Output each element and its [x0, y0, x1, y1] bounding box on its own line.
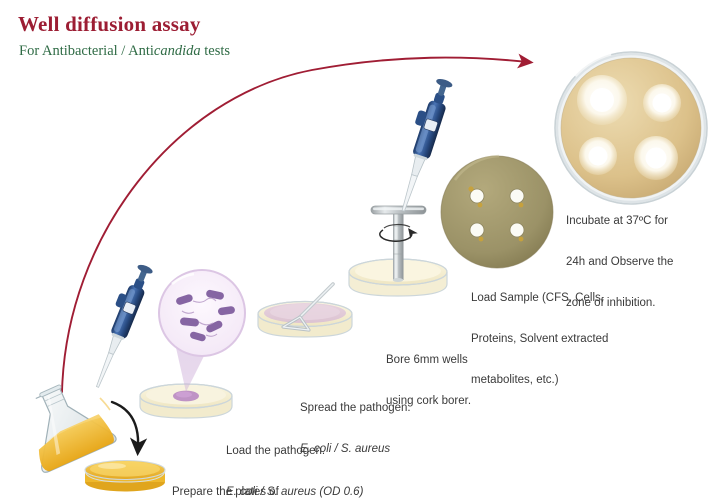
label-bore-wells: Bore 6mm wells using cork borer. [386, 327, 471, 436]
media-petri-dish [85, 461, 165, 492]
diagram-canvas: Well diffusion assay For Antibacterial /… [0, 0, 720, 503]
label-incubate-observe: Incubate at 37ºC for 24h and Observe the… [566, 188, 673, 338]
bacteria-magnifier [159, 270, 245, 356]
micropipette-load-pathogen [84, 261, 154, 391]
label-line: 24h and Observe the [566, 256, 673, 270]
label-line-italic: E. coli / S. aureus (OD 0.6) [226, 486, 363, 500]
spread-petri-dish [258, 302, 352, 338]
label-line-italic: E. coli / S. aureus [300, 443, 411, 457]
media-flask-group [13, 372, 117, 473]
label-line: zone of inhibition. [566, 297, 673, 311]
label-line: using cork borer. [386, 395, 471, 409]
label-line: Bore 6mm wells [386, 354, 471, 368]
result-plate-top-view [555, 52, 707, 204]
well-plate-top-view [441, 156, 553, 268]
label-line: Incubate at 37ºC for [566, 215, 673, 229]
label-line: metabolites, etc.) [471, 374, 608, 388]
